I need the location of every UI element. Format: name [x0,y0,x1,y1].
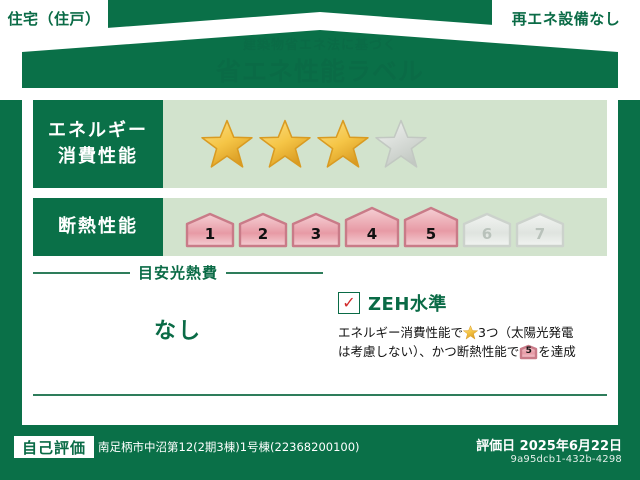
energy-consumption-label-line1: エネルギー [48,118,148,144]
check-mark-glyph: ✓ [342,295,355,311]
zeh-desc-part2: は考慮しない）、かつ断熱性能で [338,344,519,359]
inline-house-grade-icon: 5 [519,344,538,360]
energy-consumption-label-line2: 消費性能 [58,144,138,170]
star-3 [317,118,369,170]
zeh-title: ZEH水準 [368,290,447,316]
tag-dwelling-type: 住宅（住戸） [0,0,108,36]
energy-performance-label: 住宅（住戸） 再エネ設備なし 建築物省エネ法に基づく 省エネ性能ラベル エネルギ… [0,0,640,480]
checkbox-checked-icon: ✓ [338,292,360,314]
insulation-performance-row: 断熱性能 1234567 [33,198,607,256]
energy-consumption-label: エネルギー 消費性能 [33,100,163,188]
zeh-desc-star-count: 3つ（太陽光発電 [478,325,573,340]
insulation-grade-6: 6 [462,212,512,248]
zeh-desc-part1: エネルギー消費性能で [338,325,463,340]
energy-consumption-row: エネルギー 消費性能 [33,100,607,188]
insulation-performance-body: 1234567 [163,198,607,256]
star-4 [375,118,427,170]
insulation-performance-label-text: 断熱性能 [58,214,138,240]
utility-cost-heading: 目安光熱費 [33,262,323,283]
tag-renewable-label: 再エネ設備なし [512,8,621,29]
tag-dwelling-label: 住宅（住戸） [7,8,100,29]
utility-cost-value: なし [33,313,323,345]
insulation-grade-7: 7 [515,212,565,248]
utility-cost-rule-left [33,272,130,274]
energy-consumption-body [163,100,607,188]
utility-cost-block: 目安光熱費 なし [33,262,323,345]
insulation-grade-1: 1 [185,212,235,248]
zeh-description: エネルギー消費性能で3つ（太陽光発電は考慮しない）、かつ断熱性能で5を達成 [338,323,610,362]
inline-star-icon [463,325,478,340]
label-footer: 自己評価 南足柄市中沼第12(2期3棟)1号棟(22368200100) 評価日… [0,425,640,480]
zeh-desc-part3: を達成 [538,344,576,359]
self-evaluation-badge: 自己評価 [14,436,94,458]
insulation-grade-3: 3 [291,212,341,248]
tag-renewable-equipment: 再エネ設備なし [492,0,640,36]
star-1 [201,118,253,170]
insulation-grade-4: 4 [344,206,400,248]
zeh-standard-block: ✓ ZEH水準 エネルギー消費性能で3つ（太陽光発電は考慮しない）、かつ断熱性能… [338,290,610,362]
zeh-heading: ✓ ZEH水準 [338,290,610,316]
insulation-grade-scale: 1234567 [185,206,565,248]
property-address: 南足柄市中沼第12(2期3棟)1号棟(22368200100) [98,439,360,455]
self-evaluation-badge-label: 自己評価 [22,437,86,458]
utility-cost-rule-right [226,272,323,274]
insulation-grade-5: 5 [403,206,459,248]
star-2 [259,118,311,170]
utility-cost-title: 目安光熱費 [138,262,218,283]
inline-house-grade-value: 5 [519,345,538,359]
insulation-performance-label: 断熱性能 [33,198,163,256]
star-rating [201,118,427,170]
insulation-grade-2: 2 [238,212,288,248]
bottom-divider [33,394,607,396]
evaluation-date: 評価日 2025年6月22日 [476,435,622,454]
evaluation-id: 9a95dcb1-432b-4298 [511,454,622,465]
